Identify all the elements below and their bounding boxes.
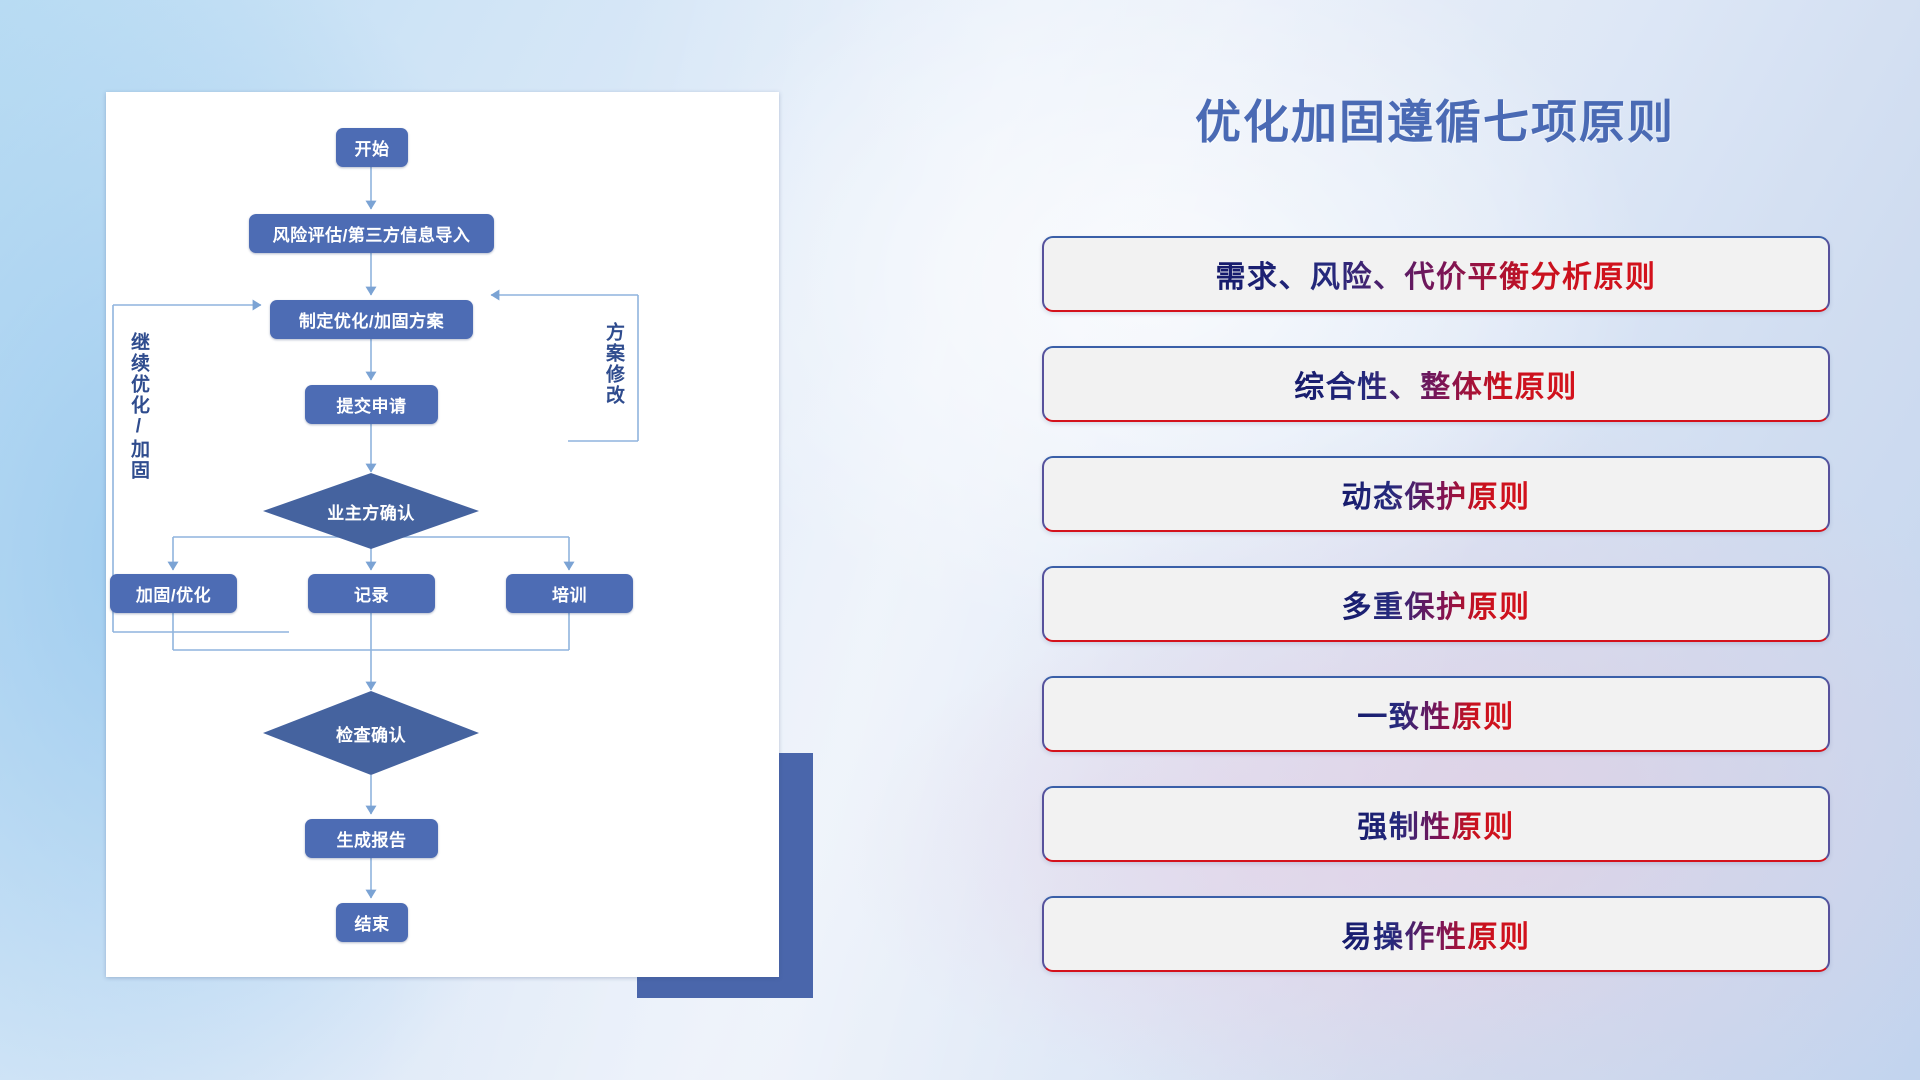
flow-node-submit-application[interactable]: 提交申请 (305, 385, 438, 424)
flow-edge-label-plan-revision: 方案修改 (603, 322, 623, 406)
flow-edge-label-continue-optimize: 继续优化/加固 (128, 332, 148, 481)
flow-node-record[interactable]: 记录 (308, 574, 435, 613)
flow-node-training[interactable]: 培训 (506, 574, 633, 613)
principle-label: 强制性原则 (1357, 802, 1515, 846)
principle-card-4[interactable]: 多重保护原则 (1042, 566, 1830, 642)
flowchart-card: 开始 风险评估/第三方信息导入 制定优化/加固方案 提交申请 业主方确认 加固/… (106, 92, 779, 977)
principle-label: 动态保护原则 (1342, 472, 1531, 516)
principle-card-5[interactable]: 一致性原则 (1042, 676, 1830, 752)
principle-card-7[interactable]: 易操作性原则 (1042, 896, 1830, 972)
principle-label: 多重保护原则 (1342, 582, 1531, 626)
flow-node-owner-confirm[interactable]: 业主方确认 (263, 473, 479, 549)
flow-node-start[interactable]: 开始 (336, 128, 408, 167)
page-title: 优化加固遵循七项原则 (1020, 86, 1850, 152)
principle-label: 综合性、整体性原则 (1294, 362, 1578, 406)
principles-panel: 优化加固遵循七项原则 需求、风险、代价平衡分析原则 综合性、整体性原则 动态保护… (1020, 86, 1850, 1016)
principle-label: 一致性原则 (1357, 692, 1515, 736)
flow-node-plan[interactable]: 制定优化/加固方案 (270, 300, 473, 339)
flow-node-generate-report[interactable]: 生成报告 (305, 819, 438, 858)
principle-label: 需求、风险、代价平衡分析原则 (1216, 252, 1657, 296)
flow-node-check-confirm[interactable]: 检查确认 (263, 691, 479, 775)
principle-card-2[interactable]: 综合性、整体性原则 (1042, 346, 1830, 422)
principle-card-3[interactable]: 动态保护原则 (1042, 456, 1830, 532)
principle-card-1[interactable]: 需求、风险、代价平衡分析原则 (1042, 236, 1830, 312)
flow-node-reinforce[interactable]: 加固/优化 (110, 574, 237, 613)
principle-label: 易操作性原则 (1342, 912, 1531, 956)
principles-list: 需求、风险、代价平衡分析原则 综合性、整体性原则 动态保护原则 多重保护原则 一… (1042, 236, 1830, 972)
flow-node-end[interactable]: 结束 (336, 903, 408, 942)
flow-node-risk-assessment[interactable]: 风险评估/第三方信息导入 (249, 214, 494, 253)
slide-root: 开始 风险评估/第三方信息导入 制定优化/加固方案 提交申请 业主方确认 加固/… (0, 0, 1920, 1080)
principle-card-6[interactable]: 强制性原则 (1042, 786, 1830, 862)
